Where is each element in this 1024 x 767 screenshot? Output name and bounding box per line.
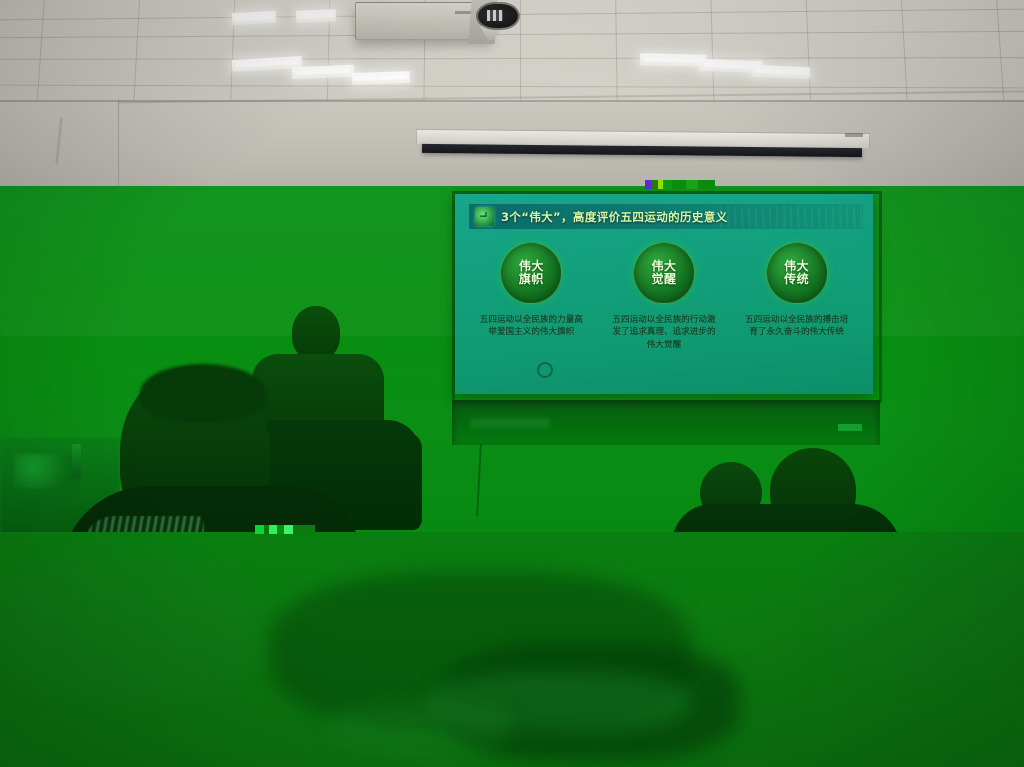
ceiling-tile-line (0, 85, 1024, 89)
ceiling-tile-line (806, 0, 812, 108)
wall-corner (118, 100, 119, 190)
column-body-text: 五四运动以全民族的搏击培育了永久奋斗的伟大传统 (744, 314, 850, 339)
column-body-text: 五四运动以全民族的行动激发了追求真理、追求进步的伟大觉醒 (611, 314, 717, 351)
screenshot-root: 3个“伟大”，高度评价五四运动的历史意义 伟大 旗帜 五四运动以全民族的力量高举… (0, 0, 1024, 767)
ceiling-light-panel (296, 9, 336, 23)
circle-badge: 伟大 觉醒 (633, 242, 695, 304)
foreground-person-hair (140, 364, 266, 422)
green-overlay-middle: 3个“伟大”，高度评价五四运动的历史意义 伟大 旗帜 五四运动以全民族的力量高举… (0, 186, 1024, 532)
slide-title: 3个“伟大”，高度评价五四运动的历史意义 (501, 209, 728, 225)
ceiling-light-panel (232, 11, 277, 25)
glitch-block (672, 180, 686, 189)
glitch-block (284, 525, 293, 534)
circle-line-2: 传统 (784, 273, 809, 286)
party-emblem-icon (475, 207, 494, 226)
ceiling-tile-line (710, 0, 714, 108)
glitch-block (277, 525, 284, 534)
glitch-block (686, 180, 698, 189)
slide-mountain-decoration (715, 206, 865, 228)
glitch-block (269, 525, 277, 534)
column-body-text: 五四运动以全民族的力量高举爱国主义的伟大旗帜 (478, 314, 584, 339)
slide-column: 伟大 旗帜 五四运动以全民族的力量高举爱国主义的伟大旗帜 (465, 242, 598, 351)
circle-badge: 伟大 旗帜 (500, 242, 562, 304)
blurred-shape (0, 552, 260, 702)
ceiling-light-panel (292, 65, 354, 80)
glitch-block (663, 180, 672, 189)
glitch-block (698, 180, 715, 189)
classroom-upper-region (0, 0, 1024, 190)
slide-ring-mark-icon (537, 362, 553, 378)
blurred-shape (820, 542, 1024, 682)
slide-column: 伟大 传统 五四运动以全民族的搏击培育了永久奋斗的伟大传统 (730, 242, 863, 351)
ceiling-tile-line (520, 0, 521, 108)
slide-column: 伟大 觉醒 五四运动以全民族的行动激发了追求真理、追求进步的伟大觉醒 (598, 242, 731, 351)
blurred-shape (330, 702, 510, 752)
desk-clutter (14, 454, 80, 488)
glitch-block (255, 525, 264, 534)
circle-line-2: 觉醒 (651, 273, 676, 286)
glitch-block (645, 180, 652, 189)
ceiling-light-panel (752, 65, 810, 80)
water-bottle (72, 444, 81, 478)
ceiling-tile-line (0, 57, 1024, 60)
projector-lens-icon (478, 4, 518, 28)
circle-line-1: 伟大 (519, 260, 544, 273)
ceiling-tile-line (0, 31, 1024, 38)
glitch-block (293, 525, 315, 534)
screen-housing-knob (845, 133, 863, 137)
ceiling-tile-line (133, 0, 140, 108)
ceiling-light-panel (640, 53, 706, 67)
green-overlay-lower (0, 532, 1024, 767)
ceiling-tile-line (615, 0, 618, 108)
blackboard-below-screen (452, 400, 880, 445)
ceiling-tile-line (36, 0, 44, 108)
slide-columns: 伟大 旗帜 五四运动以全民族的力量高举爱国主义的伟大旗帜 伟大 觉醒 五四运动以… (465, 242, 863, 351)
circle-line-1: 伟大 (784, 260, 809, 273)
hanging-cable (476, 444, 482, 516)
presentation-slide: 3个“伟大”，高度评价五四运动的历史意义 伟大 旗帜 五四运动以全民族的力量高举… (455, 194, 873, 394)
projection-screen: 3个“伟大”，高度评价五四运动的历史意义 伟大 旗帜 五四运动以全民族的力量高举… (455, 194, 873, 394)
ceiling-light-panel (352, 71, 410, 85)
compression-glitch-band-top (0, 180, 1024, 189)
circle-badge: 伟大 传统 (766, 242, 828, 304)
standing-presenter-head (292, 306, 340, 360)
compression-glitch-band-bottom (0, 525, 1024, 534)
circle-line-1: 伟大 (651, 260, 676, 273)
circle-line-2: 旗帜 (519, 273, 544, 286)
